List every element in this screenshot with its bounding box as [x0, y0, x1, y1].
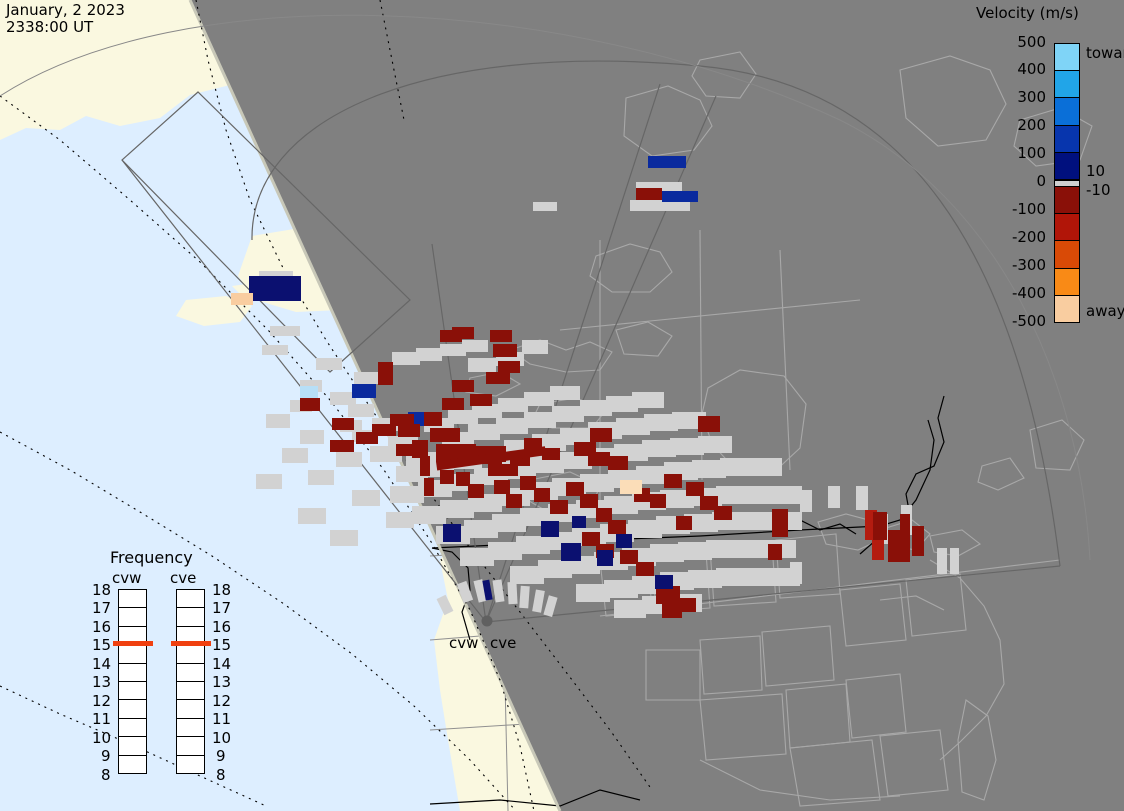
- velocity-tick-m100: -100: [1012, 200, 1046, 218]
- radar-fan-plot: January, 2 20232338:00 UT cvw cve Veloci…: [0, 0, 1124, 811]
- frequency-tick-cve-8: 8: [216, 766, 226, 784]
- frequency-legend-title: Frequency: [110, 548, 193, 567]
- frequency-cell: [177, 682, 204, 700]
- velocity-tick-300: 300: [1017, 88, 1046, 106]
- frequency-tick-cvw-11: 11: [92, 710, 111, 728]
- velocity-colorbar: [1054, 43, 1080, 323]
- frequency-tick-cvw-18: 18: [92, 581, 111, 599]
- velocity-tick-400: 400: [1017, 60, 1046, 78]
- velocity-swatch-m200-m300: [1055, 241, 1079, 268]
- frequency-tick-cvw-9: 9: [101, 747, 111, 765]
- frequency-cell: [177, 590, 204, 608]
- frequency-tick-cve-9: 9: [216, 747, 226, 765]
- velocity-zero-band: [1055, 180, 1079, 187]
- frequency-cell: [119, 682, 146, 700]
- velocity-swatch-200-100: [1055, 126, 1079, 153]
- frequency-column-head-cve: cve: [170, 569, 196, 587]
- velocity-swatch-400-300: [1055, 71, 1079, 98]
- velocity-toward-label: toward: [1086, 44, 1124, 62]
- site-label-cve: cve: [490, 634, 516, 652]
- velocity-swatch-100-10: [1055, 153, 1079, 180]
- frequency-cell: [119, 719, 146, 737]
- velocity-legend-title: Velocity (m/s): [976, 4, 1079, 22]
- frequency-cell: [177, 664, 204, 682]
- velocity-swatch-500-400: [1055, 44, 1079, 71]
- frequency-tick-cvw-12: 12: [92, 692, 111, 710]
- velocity-swatch-m10-m100: [1055, 187, 1079, 214]
- frequency-tick-cvw-8: 8: [101, 766, 111, 784]
- frequency-column-cvw[interactable]: [118, 589, 147, 774]
- frequency-tick-cve-15: 15: [212, 636, 231, 654]
- velocity-swatch-m400-m500: [1055, 296, 1079, 322]
- velocity-tick-m200: -200: [1012, 228, 1046, 246]
- timestamp-time: 2338:00 UT: [6, 18, 93, 36]
- velocity-tick-500: 500: [1017, 33, 1046, 51]
- velocity-away-label: away: [1086, 302, 1124, 320]
- frequency-marker-cve: [171, 641, 211, 646]
- frequency-cell: [119, 756, 146, 773]
- frequency-marker-cvw: [113, 641, 153, 646]
- frequency-cell: [177, 608, 204, 626]
- velocity-swatch-m300-m400: [1055, 269, 1079, 296]
- velocity-tick-m300: -300: [1012, 256, 1046, 274]
- velocity-zero-lower-label: -10: [1086, 181, 1111, 199]
- velocity-tick-100: 100: [1017, 144, 1046, 162]
- velocity-tick-0: 0: [1036, 172, 1046, 190]
- velocity-swatch-300-200: [1055, 98, 1079, 125]
- frequency-cell: [177, 737, 204, 755]
- frequency-tick-cvw-16: 16: [92, 618, 111, 636]
- frequency-column-head-cvw: cvw: [112, 569, 141, 587]
- frequency-tick-cve-17: 17: [212, 599, 231, 617]
- frequency-tick-cve-11: 11: [212, 710, 231, 728]
- frequency-legend: Frequency cvw cve: [92, 548, 242, 786]
- velocity-tick-m500: -500: [1012, 312, 1046, 330]
- timestamp: January, 2 20232338:00 UT: [6, 2, 125, 36]
- frequency-tick-cve-13: 13: [212, 673, 231, 691]
- frequency-tick-cvw-13: 13: [92, 673, 111, 691]
- velocity-tick-200: 200: [1017, 116, 1046, 134]
- frequency-tick-cvw-17: 17: [92, 599, 111, 617]
- frequency-tick-cve-18: 18: [212, 581, 231, 599]
- velocity-legend: Velocity (m/s) 500 400 300 200 100 0 -10…: [962, 2, 1124, 332]
- frequency-tick-cvw-15: 15: [92, 636, 111, 654]
- frequency-tick-cve-14: 14: [212, 655, 231, 673]
- site-label-cvw: cvw: [449, 634, 478, 652]
- frequency-cell: [119, 700, 146, 718]
- frequency-cell: [119, 590, 146, 608]
- frequency-tick-cve-16: 16: [212, 618, 231, 636]
- frequency-cell: [177, 756, 204, 773]
- frequency-tick-cve-10: 10: [212, 729, 231, 747]
- frequency-cell: [177, 719, 204, 737]
- frequency-tick-cvw-14: 14: [92, 655, 111, 673]
- timestamp-date: January, 2 2023: [6, 1, 125, 19]
- velocity-zero-upper-label: 10: [1086, 162, 1105, 180]
- frequency-tick-cve-12: 12: [212, 692, 231, 710]
- velocity-swatch-m100-m200: [1055, 214, 1079, 241]
- frequency-cell: [177, 700, 204, 718]
- frequency-cell: [119, 737, 146, 755]
- radar-site-marker: [482, 616, 493, 627]
- frequency-cell: [177, 645, 204, 663]
- frequency-cell: [119, 645, 146, 663]
- velocity-tick-m400: -400: [1012, 284, 1046, 302]
- frequency-tick-cvw-10: 10: [92, 729, 111, 747]
- frequency-cell: [119, 664, 146, 682]
- frequency-cell: [119, 608, 146, 626]
- frequency-column-cve[interactable]: [176, 589, 205, 774]
